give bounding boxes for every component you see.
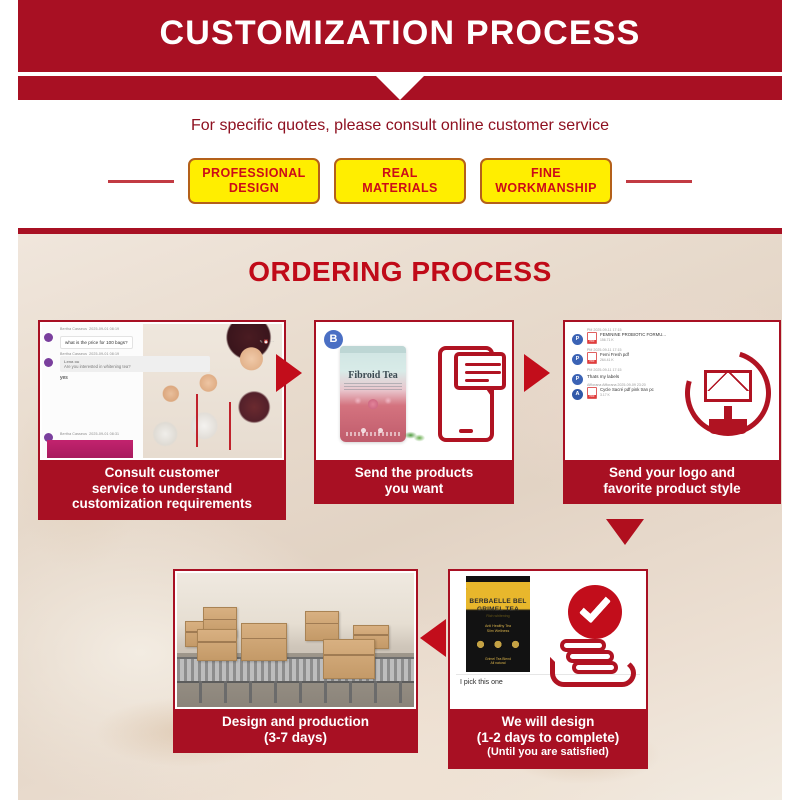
files-mock: P PM 2025-09-11 17:15 FEMININE PROBIOTIC… [567,324,777,458]
pouch-midtext: Anti Healthy Tea Slim Wellness [466,624,530,634]
phone-home-button-icon [459,429,473,433]
pouch-mid-line2: Slim Wellness [487,629,510,633]
section-title: ORDERING PROCESS [18,256,782,288]
pouch-title-line2: GRIMEL TEA [477,606,519,613]
avatar: B [324,330,343,349]
arrow-step2-to-step3-icon [524,354,550,392]
warehouse-conveyor-boxes [175,571,416,709]
step-caption: Send your logo and favorite product styl… [565,460,779,502]
mint-leaf-icon [404,428,426,444]
cardboard-box [241,623,287,661]
caption-line: (1-2 days to complete) [477,730,620,745]
avatar: P [572,354,583,365]
feature-badge-row: PROFESSIONAL DESIGN REAL MATERIALS FINE … [0,158,800,204]
caption-line: customization requirements [72,496,252,511]
design-option-pouch: BERBAELLE BEL GRIMEL TEA Rich whitening … [466,576,530,672]
pouch-footer: Grimel Tea Blend All natural [466,657,530,666]
pouch-top-seal [340,346,406,353]
pouch-mid-line1: Anti Healthy Tea [485,624,511,628]
badge-real-materials: REAL MATERIALS [334,158,466,204]
step-card-consult: Bertha Casseus 2025-09-01 08:19 what is … [38,320,286,520]
pouch-title: BERBAELLE BEL GRIMEL TEA [466,598,530,613]
chat-reply-text: yes [60,372,277,384]
header-notch-icon [376,76,424,100]
chat-sender: Bertha Casseus [60,327,87,331]
envelope-icon [704,370,752,402]
cardboard-box [305,611,339,641]
warehouse-photo [177,573,414,707]
avatar: A [572,389,583,400]
product-pouch-and-phone: B Fibroid Tea [316,322,512,460]
badge-fine-workmanship: FINE WORKMANSHIP [480,158,612,204]
step-caption: Consult customer service to understand c… [40,460,284,518]
chat-sender: Bertha Casseus [60,432,87,436]
open-hand-icon [544,633,638,691]
conveyor-legs [177,681,414,703]
caption-line: (3-7 days) [264,730,327,745]
hand-finger [572,661,618,674]
arrow-step1-to-step2-icon [276,354,302,392]
pdf-icon [587,332,597,344]
file-size: 156.71 K [600,338,666,342]
pouch-foot-line1: Grimel Tea Blend [485,657,511,661]
checkmark-icon [579,590,611,623]
caption-line: Send the products [355,465,474,480]
caption-line: service to understand [92,481,232,496]
chat-sender: Bertha Casseus [60,352,87,356]
badge-line2: MATERIALS [362,181,438,195]
pouch-seal-icons [475,638,521,654]
product-mock: B Fibroid Tea [318,324,510,458]
badge-line1: REAL [382,166,418,180]
badge-professional-design: PROFESSIONAL DESIGN [188,158,320,204]
rule-right [626,180,692,183]
step-caption: We will design (1-2 days to complete) (U… [450,709,646,767]
approved-design-check-hand: BERBAELLE BEL GRIMEL TEA Rich whitening … [450,571,646,709]
rule-left [108,180,174,183]
caption-line: you want [385,481,444,496]
caption-line: Consult customer [105,465,220,480]
chat-mock: Bertha Casseus 2025-09-01 08:19 what is … [42,324,282,458]
pick-mock: BERBAELLE BEL GRIMEL TEA Rich whitening … [452,573,644,707]
customer-service-chat-photo: Bertha Casseus 2025-09-01 08:19 what is … [40,322,284,460]
customer-reply-text: I pick this one [460,679,503,686]
chat-quoted-message: Lena ou Are you interested in whitening … [60,356,210,372]
caption-line: favorite product style [603,481,740,496]
chat-time: 2025-09-01 08:19 [89,352,119,356]
step-card-send-products: B Fibroid Tea [314,320,514,504]
step-caption: Design and production (3-7 days) [175,709,416,751]
pouch-footer-text [346,432,400,436]
product-name: Fibroid Tea [340,370,406,381]
pouch-title-line1: BERBAELLE BEL [469,598,526,605]
step-card-design-production: Design and production (3-7 days) [173,569,418,753]
badge-line2: WORKMANSHIP [495,181,597,195]
pouch-wave-band [466,582,530,594]
check-badge-icon [568,585,622,639]
file-row: P PM 2025-09-11 17:15 FEMININE PROBIOTIC… [571,328,773,344]
pouch-subtitle: Rich whitening [466,614,530,618]
badge-line1: FINE [531,166,561,180]
page-title: CUSTOMIZATION PROCESS [0,14,800,53]
chat-reactions-icon: ✎ ⏰ ⋯ [259,339,274,344]
pdf-icon [587,352,597,364]
chat-message: Bertha Casseus 2025-09-01 08:31 [42,429,282,436]
caption-line: Design and production [222,714,369,729]
caption-line: Send your logo and [609,465,735,480]
step-caption: Send the products you want [316,460,512,502]
ordering-process-panel: ORDERING PROCESS Bertha Casseus 2025-09-… [18,228,782,800]
avatar: P [572,334,583,345]
chat-message: Bertha Casseus 2025-09-01 08:19 what is … [42,324,282,349]
caption-note: (Until you are satisfied) [452,745,644,761]
step-card-we-will-design: BERBAELLE BEL GRIMEL TEA Rich whitening … [448,569,648,769]
badge-line2: DESIGN [229,181,279,195]
badge-line1: PROFESSIONAL [202,166,305,180]
file-size: 264.41 K [600,358,629,362]
download-arrow-icon [724,406,732,420]
chat-image-attachment [47,440,133,458]
cardboard-box [197,629,237,661]
pouch-foot-line2: All natural [490,661,505,665]
chat-time: 2025-09-01 08:31 [89,432,119,436]
chat-message: Bertha Casseus 2025-09-01 08:19 Lena ou … [42,349,282,384]
arrow-step3-to-step5-icon [606,519,644,545]
pouch-subtext [344,383,402,390]
email-download-icon [685,350,771,436]
file-size: 3.17 K [600,393,654,397]
email-attachments-download: P PM 2025-09-11 17:15 FEMININE PROBIOTIC… [565,322,779,460]
header-subtitle: For specific quotes, please consult onli… [0,117,800,135]
step-card-send-logo: P PM 2025-09-11 17:15 FEMININE PROBIOTIC… [563,320,781,504]
arrow-step5-to-step4-icon [420,619,446,657]
chat-time: 2025-09-01 08:19 [89,327,119,331]
pdf-icon [587,387,597,399]
chat-bubble-icon [454,352,506,390]
chat-text: what is the price for 100 bags? [60,336,133,349]
cardboard-box [323,639,375,679]
caption-line: We will design [502,714,595,729]
pouch-artwork [352,394,394,424]
product-pouch: Fibroid Tea [340,346,406,442]
quote-text: Are you interested in whitening tea? [64,364,131,369]
infographic-page: CUSTOMIZATION PROCESS For specific quote… [0,0,800,800]
